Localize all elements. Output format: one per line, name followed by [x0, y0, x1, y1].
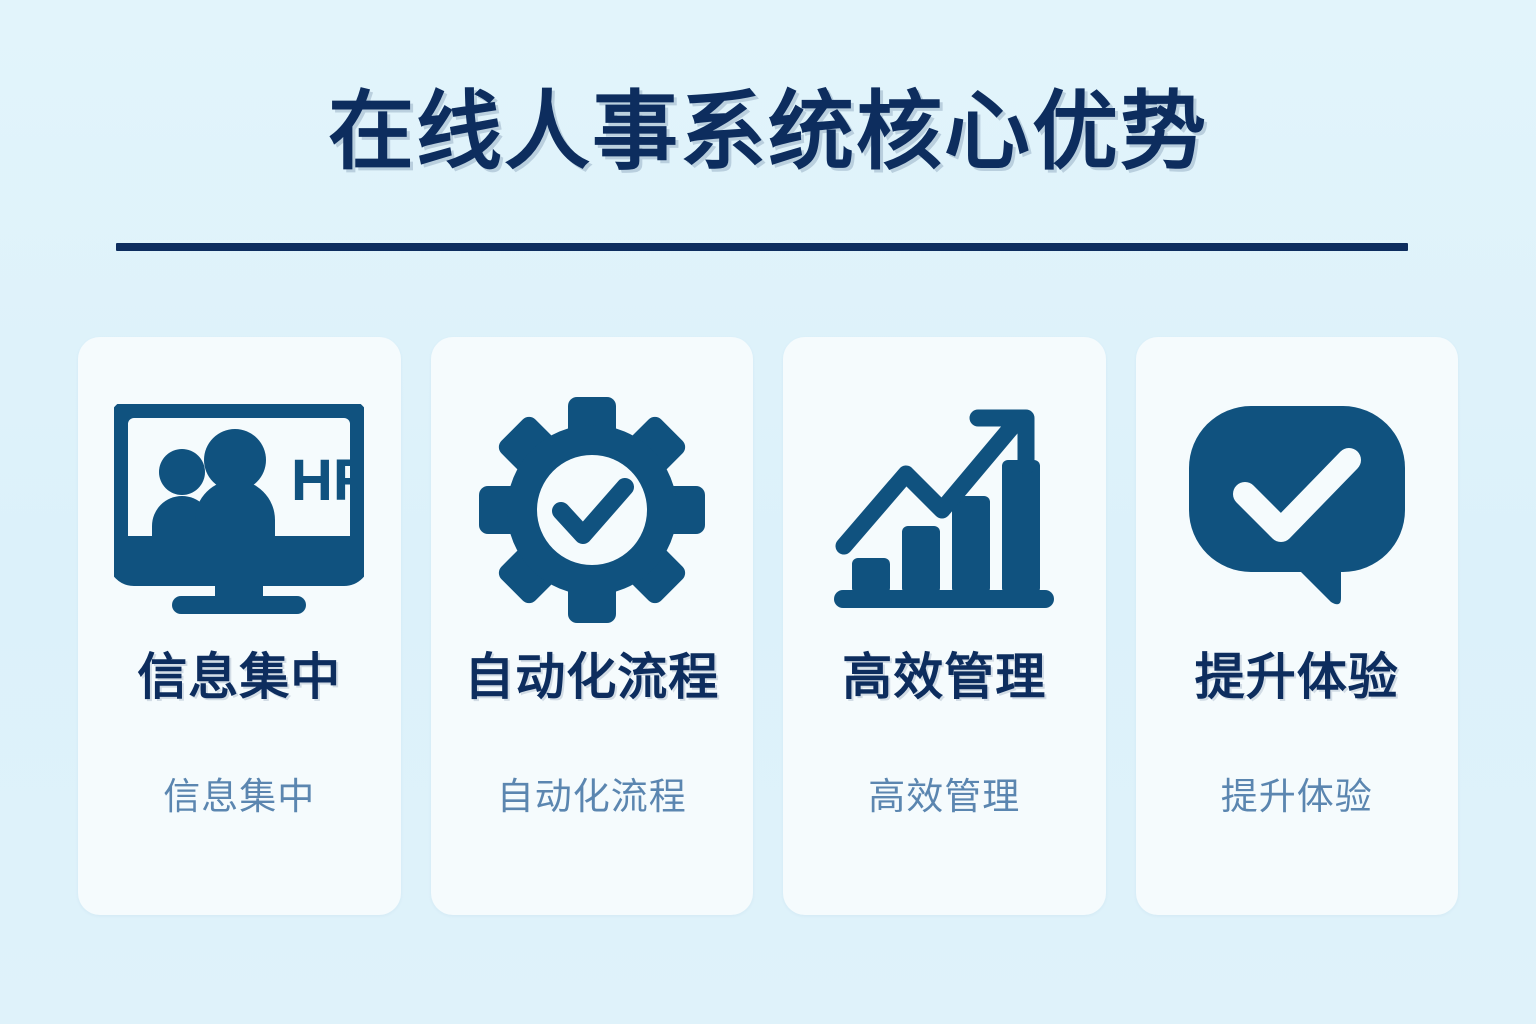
feature-card-title: 自动化流程	[464, 649, 719, 707]
feature-card-description: 自动化流程	[497, 775, 687, 819]
feature-card-grid: HR 信息集中 信息集中	[78, 337, 1458, 915]
feature-card-title: 信息集中	[137, 649, 341, 707]
feature-card-information-centralization[interactable]: HR 信息集中 信息集中	[78, 337, 401, 915]
header: 在线人事系统核心优势	[0, 86, 1536, 179]
feature-card-efficient-management[interactable]: 高效管理 高效管理	[783, 337, 1106, 915]
feature-card-description: 提升体验	[1221, 775, 1373, 819]
slide-root: 在线人事系统核心优势	[0, 0, 1536, 1024]
title-divider	[116, 243, 1408, 251]
feature-card-better-experience[interactable]: 提升体验 提升体验	[1136, 337, 1459, 915]
feature-card-description: 信息集中	[163, 775, 315, 819]
gear-check-icon	[445, 395, 740, 625]
page-title: 在线人事系统核心优势	[0, 86, 1536, 179]
monitor-hr-icon: HR	[92, 395, 387, 625]
speech-bubble-check-icon	[1150, 395, 1445, 625]
feature-card-description: 高效管理	[868, 775, 1020, 819]
growth-chart-icon	[797, 395, 1092, 625]
feature-card-title: 提升体验	[1195, 649, 1399, 707]
feature-card-title: 高效管理	[842, 649, 1046, 707]
monitor-hr-label: HR	[291, 448, 364, 513]
feature-card-automated-workflow[interactable]: 自动化流程 自动化流程	[431, 337, 754, 915]
